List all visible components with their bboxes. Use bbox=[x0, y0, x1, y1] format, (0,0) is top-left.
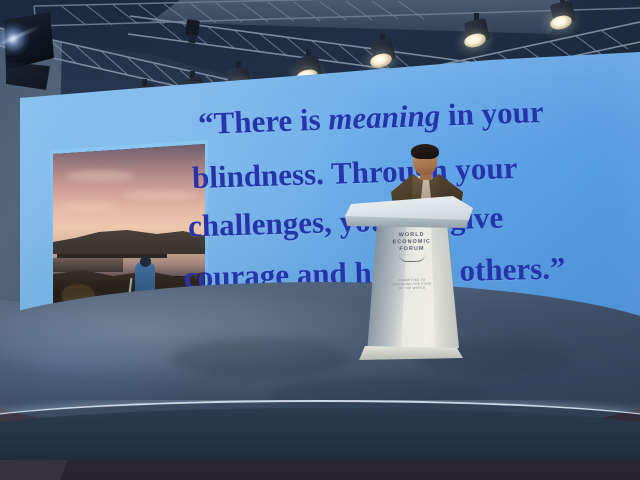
stage-platform bbox=[0, 282, 640, 480]
spotlight bbox=[462, 20, 492, 54]
wef-logo: WORLD ECONOMIC FORUM bbox=[385, 232, 440, 273]
stage-scuff bbox=[170, 338, 350, 378]
podium-base bbox=[359, 346, 463, 360]
podium: WORLD ECONOMIC FORUM COMMITTED TO IMPROV… bbox=[345, 196, 473, 362]
wef-smile-icon bbox=[399, 254, 425, 262]
quote-line-1a: “There is bbox=[197, 101, 328, 141]
speaker-hair bbox=[411, 144, 439, 159]
quote-line-1b: in your bbox=[440, 94, 545, 133]
wef-tagline: COMMITTED TO IMPROVING THE STATE OF THE … bbox=[385, 278, 439, 292]
wef-logo-line-3: FORUM bbox=[385, 246, 439, 254]
quote-line-1: “There is meaning in your bbox=[197, 94, 544, 142]
moving-head-fixture bbox=[185, 19, 200, 43]
quote-line-1-italic: meaning bbox=[328, 98, 441, 137]
stage-photo: “There is meaning in your blindness. Thr… bbox=[0, 0, 640, 480]
spotlight bbox=[548, 2, 578, 36]
